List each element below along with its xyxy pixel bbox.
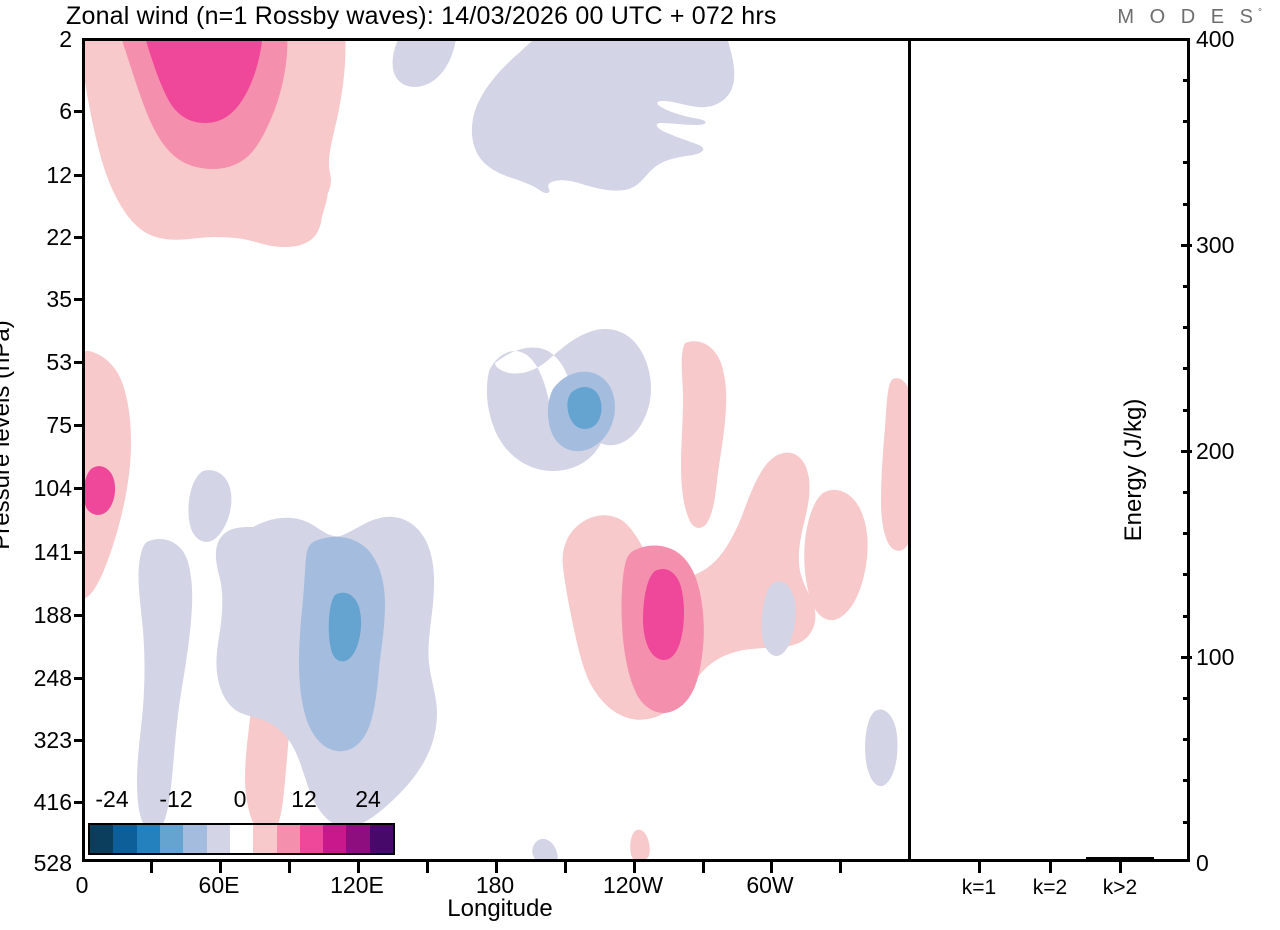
energy-tick-mark [1181,656,1192,659]
y-tick-label: 323 [8,727,72,754]
colorbar-tick-label: 12 [274,786,334,813]
plot-frame [82,38,1190,862]
energy-minor-tick [1183,573,1190,576]
y-tick-mark [74,614,85,617]
colorbar-swatch [207,825,230,853]
colorbar-swatch [137,825,160,853]
energy-minor-tick [1183,697,1190,700]
colorbar-swatch [346,825,369,853]
y-tick-label: 22 [20,224,72,251]
colorbar-tick-label: -24 [82,786,142,813]
colorbar-swatch [323,825,346,853]
y-tick-mark [74,110,85,113]
y-tick-label: 35 [20,286,72,313]
y-tick-mark [74,424,85,427]
y-tick-mark [74,298,85,301]
y-tick-label: 104 [8,475,72,502]
y-tick-label: 53 [20,349,72,376]
energy-tick-label: 400 [1196,26,1234,53]
contour-neg-bottom-speck [532,839,558,859]
energy-tick-label: 300 [1196,232,1234,259]
energy-minor-tick [1183,821,1190,824]
x-tick-mark [633,862,636,873]
energy-minor-tick [1183,738,1190,741]
y-tick-label: 2 [20,26,72,53]
x-tick-mark [426,862,429,873]
colorbar-swatch [230,825,253,853]
contour-neg-small-40e [188,470,231,542]
contour-pos-blob-75w [804,490,867,620]
panel-divider [908,38,911,862]
y-tick-label: 141 [8,539,72,566]
modes-logo: M O D E S° [1117,6,1262,29]
y-tick-mark [74,236,85,239]
contour-pos-main-band3 [643,569,684,660]
colorbar-swatch [277,825,300,853]
colorbar-swatch [90,825,113,853]
energy-tick-mark [1181,450,1192,453]
chart-canvas: Zonal wind (n=1 Rossby waves): 14/03/202… [0,0,1280,930]
k-tick-label: k>2 [1079,876,1161,900]
colorbar-swatch [160,825,183,853]
energy-minor-tick [1183,615,1190,618]
page-title: Zonal wind (n=1 Rossby waves): 14/03/202… [66,2,777,31]
contour-neg-ellipse-right [865,709,897,786]
colorbar-tick-label: 24 [338,786,398,813]
energy-minor-tick [1183,120,1190,123]
contour-pos-right-edge [881,378,908,551]
contour-neg-top-large [472,41,734,193]
contour-field [85,41,908,859]
colorbar-swatches[interactable] [88,823,395,855]
contour-pos-column-right [681,341,726,528]
contour-neg-top-small [393,41,457,87]
energy-minor-tick [1183,285,1190,288]
x-tick-mark [702,862,705,873]
colorbar-swatch [183,825,206,853]
x-tick-label: 0 [52,872,112,899]
energy-tick-mark [1181,244,1192,247]
energy-tick-label: 100 [1196,644,1234,671]
y-tick-mark [74,551,85,554]
colorbar-swatch [113,825,136,853]
y-tick-label: 188 [8,602,72,629]
k-tick-mark [1119,862,1122,873]
y-tick-label: 416 [8,789,72,816]
energy-minor-tick [1183,532,1190,535]
x-tick-mark [357,862,360,873]
energy-minor-tick [1183,491,1190,494]
y-tick-label: 75 [20,412,72,439]
y-tick-label: 6 [20,98,72,125]
energy-minor-tick [1183,79,1190,82]
colorbar-swatch [253,825,276,853]
x-tick-mark [770,862,773,873]
x-tick-mark [839,862,842,873]
y-axis-right-title: Energy (J/kg) [1120,320,1148,620]
modes-logo-text: M O D E S [1117,6,1258,28]
modes-logo-mark: ° [1258,7,1262,18]
colorbar-tick-label: 0 [210,786,270,813]
energy-minor-tick [1183,326,1190,329]
y-tick-mark [74,361,85,364]
colorbar-swatch [370,825,393,853]
colorbar-swatch [300,825,323,853]
energy-minor-tick [1183,779,1190,782]
energy-tick-label: 0 [1196,850,1209,877]
energy-minor-tick [1183,161,1190,164]
x-tick-mark [150,862,153,873]
x-tick-mark [564,862,567,873]
x-tick-mark [288,862,291,873]
energy-minor-tick [1183,409,1190,412]
contour-pos-bottom-speck [630,830,650,859]
x-tick-label: 60W [725,872,815,899]
y-tick-mark [74,739,85,742]
y-tick-label: 248 [8,665,72,692]
y-tick-label: 12 [20,162,72,189]
energy-minor-tick [1183,203,1190,206]
x-tick-mark [219,862,222,873]
y-tick-mark [74,677,85,680]
y-tick-mark [74,174,85,177]
x-tick-mark [495,862,498,873]
k-tick-label: k=1 [938,876,1020,900]
k-tick-mark [978,862,981,873]
colorbar-tick-label: -12 [146,786,206,813]
energy-minor-tick [1183,367,1190,370]
x-axis-title: Longitude [350,895,650,923]
energy-tick-label: 200 [1196,438,1234,465]
y-tick-mark [74,487,85,490]
k-tick-mark [1049,862,1052,873]
x-tick-label: 60E [174,872,264,899]
